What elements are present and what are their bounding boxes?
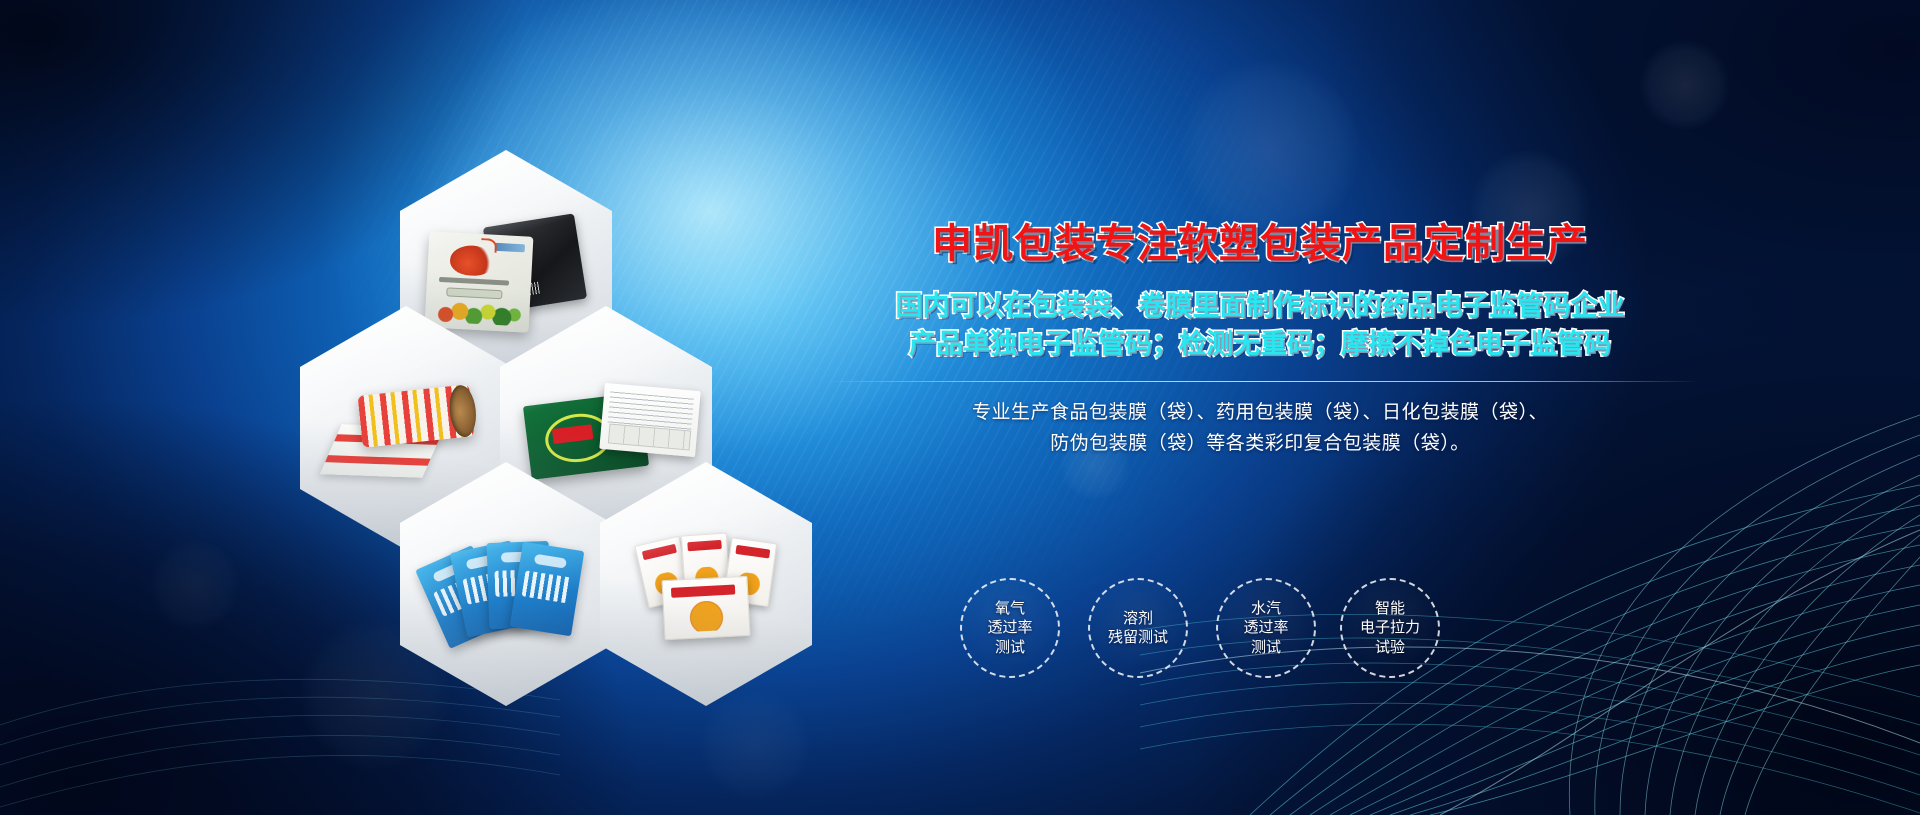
badge-line-3: 试验 <box>1375 638 1405 657</box>
badge-line-3: 测试 <box>1251 638 1281 657</box>
banner-body-line1: 专业生产食品包装膜（袋）、药用包装膜（袋）、日化包装膜（袋）、 <box>820 398 1700 429</box>
hero-banner: 申凯包装专注软塑包装产品定制生产 国内可以在包装袋、卷膜里面制作标识的药品电子监… <box>0 0 1920 815</box>
product-image-snack-bags <box>424 524 589 644</box>
banner-copy: 申凯包装专注软塑包装产品定制生产 国内可以在包装袋、卷膜里面制作标识的药品电子监… <box>820 222 1700 460</box>
badge-line-2: 电子拉力 <box>1360 618 1420 637</box>
badge-line-2: 残留测试 <box>1108 628 1168 647</box>
badge-line-1: 智能 <box>1375 599 1405 618</box>
badge-line-1: 水汽 <box>1251 599 1281 618</box>
product-image-medicine-sachets <box>631 524 781 644</box>
banner-body-line2: 防伪包装膜（袋）等各类彩印复合包装膜（袋）。 <box>820 429 1700 460</box>
hexagon-product-cluster <box>300 150 720 580</box>
badge-tensile-test[interactable]: 智能 电子拉力 试验 <box>1340 578 1440 678</box>
badge-line-1: 氧气 <box>995 599 1025 618</box>
product-image-mask-pouches <box>421 212 591 332</box>
badge-line-3: 测试 <box>995 638 1025 657</box>
badge-oxygen-transmission[interactable]: 氧气 透过率 测试 <box>960 578 1060 678</box>
banner-subtitle-line2: 产品单独电子监管码；检测无重码；摩擦不掉色电子监管码 <box>820 325 1700 363</box>
badge-line-2: 透过率 <box>1243 618 1288 637</box>
badge-water-vapor-transmission[interactable]: 水汽 透过率 测试 <box>1216 578 1316 678</box>
badge-line-2: 透过率 <box>987 618 1032 637</box>
banner-subtitle-line1: 国内可以在包装袋、卷膜里面制作标识的药品电子监管码企业 <box>820 287 1700 325</box>
banner-headline: 申凯包装专注软塑包装产品定制生产 <box>820 222 1700 267</box>
product-image-film-roll <box>326 368 486 488</box>
badge-line-1: 溶剂 <box>1123 609 1153 628</box>
divider-rule <box>820 381 1700 382</box>
product-image-green-pack <box>519 373 694 483</box>
test-badges: 氧气 透过率 测试 溶剂 残留测试 水汽 透过率 测试 智能 电子拉力 试验 <box>960 572 1520 702</box>
badge-solvent-residue[interactable]: 溶剂 残留测试 <box>1088 578 1188 678</box>
